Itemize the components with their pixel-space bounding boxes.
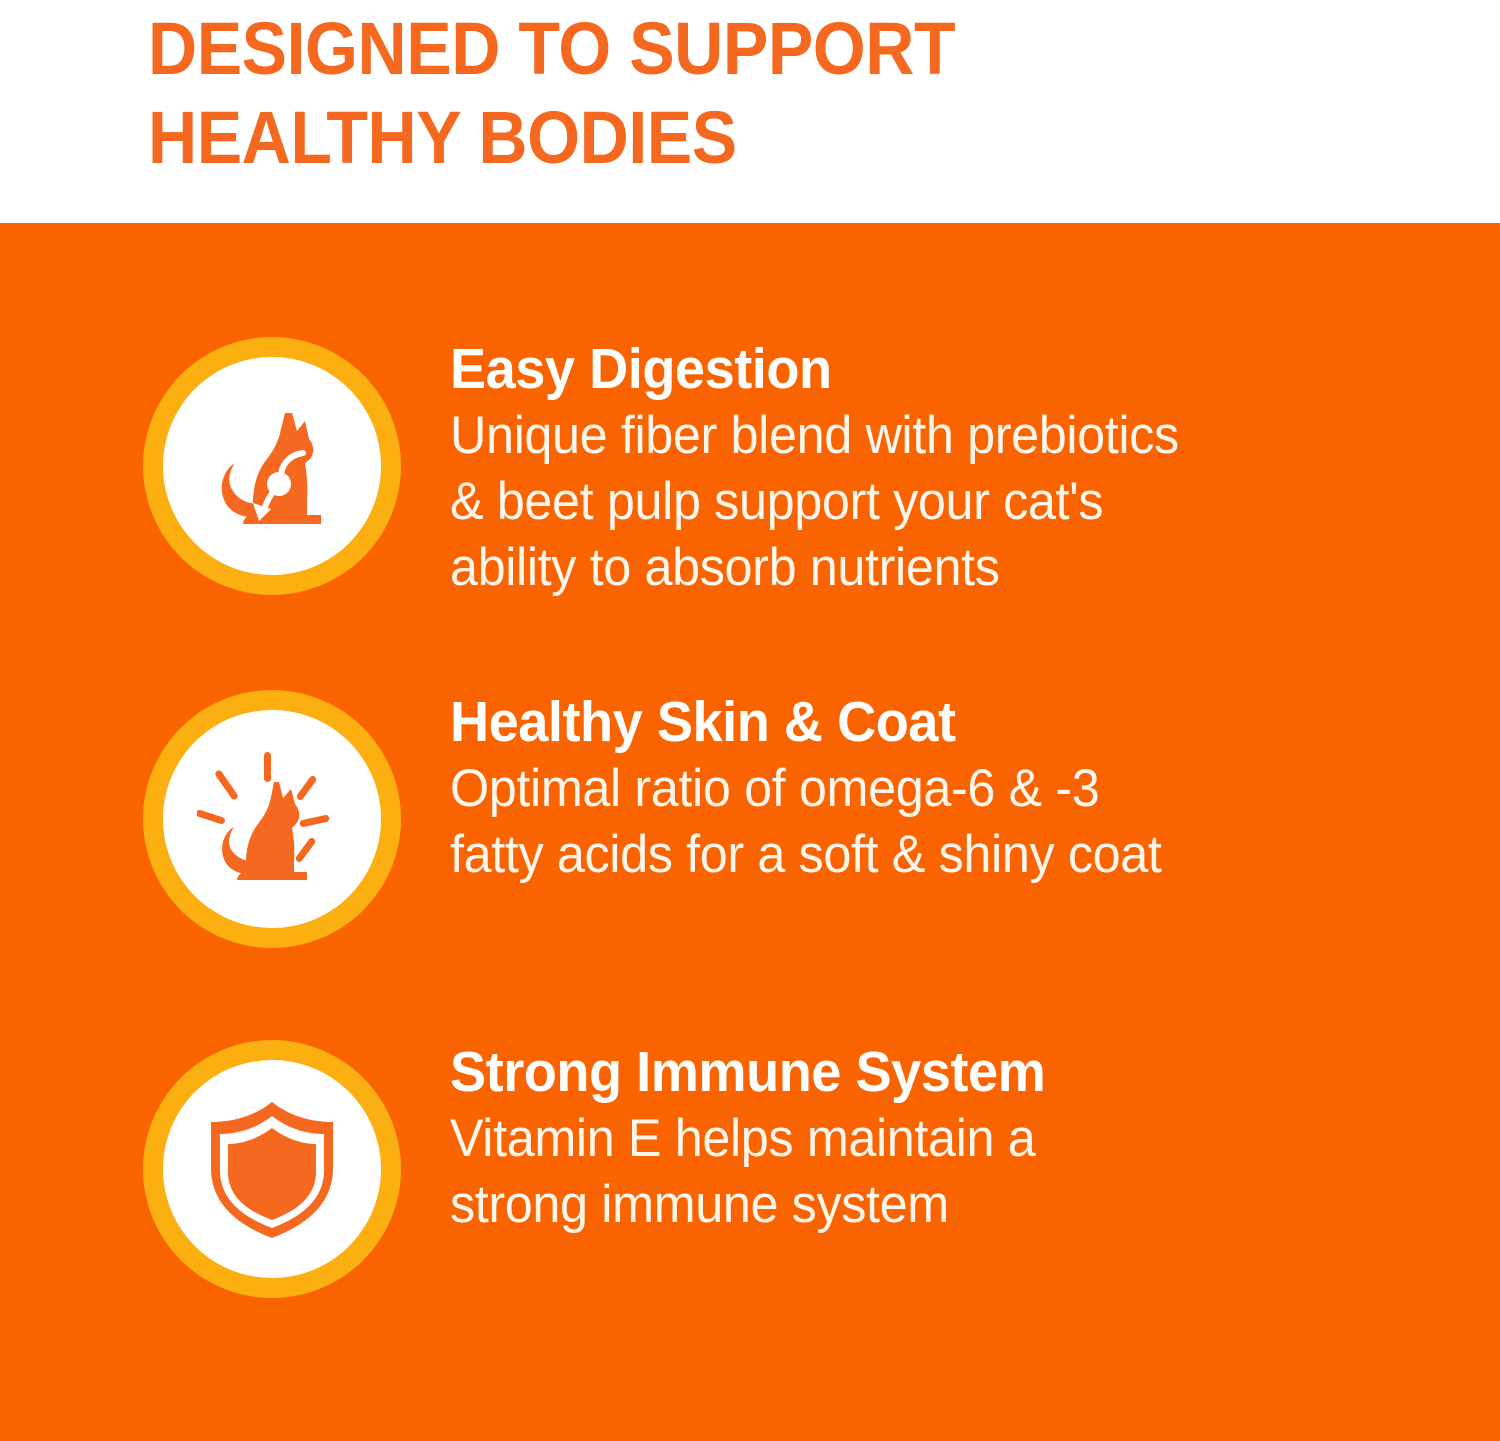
- feature-title: Easy Digestion: [450, 337, 1410, 401]
- feature-text-easy-digestion: Easy Digestion Unique fiber blend with p…: [450, 337, 1460, 601]
- feature-row-healthy-skin-coat: Healthy Skin & Coat Optimal ratio of ome…: [0, 690, 1500, 948]
- feature-title: Healthy Skin & Coat: [450, 690, 1410, 754]
- badge-inner-circle: [163, 1060, 381, 1278]
- header-band: DESIGNED TO SUPPORT HEALTHY BODIES: [0, 0, 1500, 223]
- feature-description: Optimal ratio of omega-6 & -3 fatty acid…: [450, 756, 1410, 888]
- badge-strong-immune-system: [143, 1040, 401, 1298]
- feature-title: Strong Immune System: [450, 1040, 1410, 1104]
- page-title: DESIGNED TO SUPPORT HEALTHY BODIES: [148, 4, 1392, 182]
- product-benefits-poster: DESIGNED TO SUPPORT HEALTHY BODIES: [0, 0, 1500, 1441]
- cat-shine-icon: [197, 744, 347, 894]
- badge-inner-circle: [163, 357, 381, 575]
- badge-easy-digestion: [143, 337, 401, 595]
- badge-inner-circle: [163, 710, 381, 928]
- cat-digestion-icon: [197, 391, 347, 541]
- feature-text-strong-immune-system: Strong Immune System Vitamin E helps mai…: [450, 1040, 1460, 1238]
- features-panel: Easy Digestion Unique fiber blend with p…: [0, 223, 1500, 1441]
- feature-row-easy-digestion: Easy Digestion Unique fiber blend with p…: [0, 337, 1500, 601]
- shield-icon: [197, 1094, 347, 1244]
- feature-description: Unique fiber blend with prebiotics & bee…: [450, 403, 1410, 601]
- feature-row-strong-immune-system: Strong Immune System Vitamin E helps mai…: [0, 1040, 1500, 1298]
- feature-description: Vitamin E helps maintain a strong immune…: [450, 1106, 1410, 1238]
- feature-text-healthy-skin-coat: Healthy Skin & Coat Optimal ratio of ome…: [450, 690, 1460, 888]
- badge-healthy-skin-coat: [143, 690, 401, 948]
